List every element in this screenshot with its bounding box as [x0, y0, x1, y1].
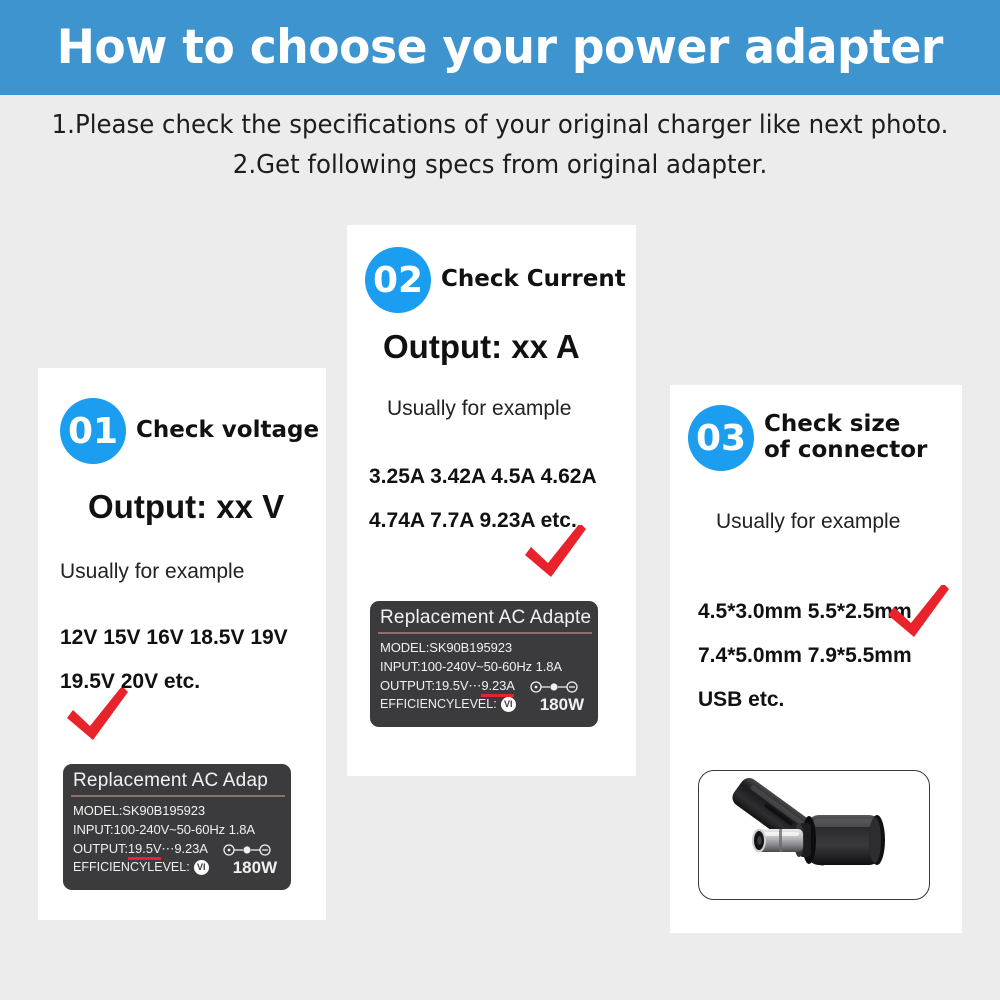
label-divider-01	[71, 795, 285, 797]
label-efficiency-02: EFFICIENCYLEVEL: VI 180W	[370, 695, 598, 714]
intro-line-1: 1.Please check the specifications of you…	[30, 105, 970, 145]
label-input-02: INPUT:100-240V~50-60Hz 1.8A	[370, 657, 598, 676]
label-model-01: MODEL:SK90B195923	[63, 801, 291, 820]
red-check-icon	[885, 585, 951, 643]
label-output-sep-01: ⋯	[161, 841, 174, 856]
card-03-usually-label: Usually for example	[716, 510, 900, 534]
label-watts-02: 180W	[540, 695, 584, 714]
label-output-voltage-02: 19.5V	[435, 678, 468, 693]
label-watts-01: 180W	[233, 858, 277, 877]
card-check-connector-size: 03 Check size of connector Usually for e…	[670, 385, 962, 933]
label-output-prefix-01: OUTPUT:	[73, 841, 128, 856]
card-02-usually-label: Usually for example	[387, 397, 571, 421]
label-output-current-01: 9.23A	[174, 841, 207, 856]
label-efficiency-text-01: EFFICIENCYLEVEL:	[73, 858, 190, 877]
label-output-voltage-01: 19.5V	[128, 841, 161, 860]
intro-line-2: 2.Get following specs from original adap…	[30, 145, 970, 185]
red-check-icon	[522, 525, 588, 583]
adapter-label-02: Replacement AC Adapte MODEL:SK90B195923 …	[370, 601, 598, 727]
intro-instructions: 1.Please check the specifications of you…	[0, 105, 1000, 185]
label-efficiency-text-02: EFFICIENCYLEVEL:	[380, 695, 497, 714]
card-01-output-spec: Output: xx V	[88, 488, 284, 526]
efficiency-level-icon: VI	[501, 697, 516, 712]
card-03-examples: 4.5*3.0mm 5.5*2.5mm 7.4*5.0mm 7.9*5.5mm …	[698, 590, 912, 722]
connector-photo-frame	[698, 770, 930, 900]
label-brand-01: Replacement AC Adap	[63, 770, 291, 792]
card-03-header: 03 Check size of connector	[688, 405, 927, 471]
label-output-prefix-02: OUTPUT:	[380, 678, 435, 693]
label-output-02: OUTPUT:19.5V⋯9.23A	[370, 676, 598, 695]
header-banner: How to choose your power adapter	[0, 0, 1000, 95]
polarity-icon	[223, 844, 271, 856]
card-02-output-spec: Output: xx A	[383, 328, 580, 366]
card-check-current: 02 Check Current Output: xx A Usually fo…	[347, 225, 636, 776]
label-output-current-02: 9.23A	[481, 678, 514, 697]
card-02-header: 02 Check Current	[365, 247, 626, 313]
polarity-icon	[530, 681, 578, 693]
label-model-02: MODEL:SK90B195923	[370, 638, 598, 657]
label-efficiency-01: EFFICIENCYLEVEL: VI 180W	[63, 858, 291, 877]
card-01-usually-label: Usually for example	[60, 560, 244, 584]
step-badge-02: 02	[365, 247, 431, 313]
card-check-voltage: 01 Check voltage Output: xx V Usually fo…	[38, 368, 326, 920]
step-badge-01: 01	[60, 398, 126, 464]
efficiency-level-icon: VI	[194, 860, 209, 875]
page-title: How to choose your power adapter	[57, 20, 943, 75]
label-output-01: OUTPUT:19.5V⋯9.23A	[63, 839, 291, 858]
step-badge-03: 03	[688, 405, 754, 471]
card-01-title: Check voltage	[136, 418, 319, 444]
label-divider-02	[378, 632, 592, 634]
dc-barrel-connector-photo	[699, 771, 930, 900]
card-02-title: Check Current	[441, 267, 626, 293]
red-check-icon	[64, 688, 130, 746]
card-03-title: Check size of connector	[764, 412, 927, 464]
card-01-header: 01 Check voltage	[60, 398, 319, 464]
label-brand-02: Replacement AC Adapte	[370, 607, 598, 629]
adapter-label-01: Replacement AC Adap MODEL:SK90B195923 IN…	[63, 764, 291, 890]
label-input-01: INPUT:100-240V~50-60Hz 1.8A	[63, 820, 291, 839]
label-output-sep-02: ⋯	[468, 678, 481, 693]
